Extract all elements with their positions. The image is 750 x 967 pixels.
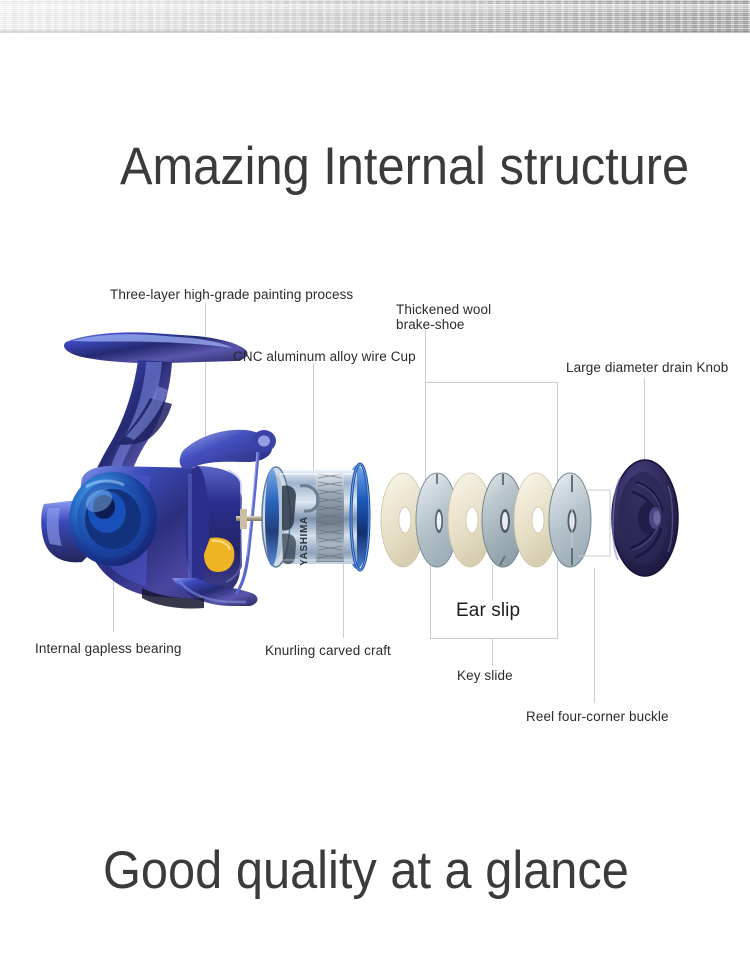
annotation-brake-shoe: Thickened wool brake-shoe bbox=[396, 302, 491, 332]
metal-highlight bbox=[0, 4, 750, 14]
wool-brake-washer bbox=[381, 473, 425, 567]
bracket-top-left-drop bbox=[425, 382, 426, 487]
annotation-painting-process: Three-layer high-grade painting process bbox=[110, 287, 353, 302]
page-title: Amazing Internal structure bbox=[120, 136, 689, 197]
leader-line-knob bbox=[644, 378, 645, 463]
bracket-bottom-washers bbox=[430, 638, 558, 639]
aluminum-wire-spool: YASHIMA bbox=[262, 464, 369, 570]
leader-line-wirecup bbox=[313, 363, 314, 473]
leader-line-buckle bbox=[594, 568, 595, 703]
annotation-ear-slip: Ear slip bbox=[456, 600, 520, 621]
infographic-page: Amazing Internal structure Good quality … bbox=[0, 0, 750, 967]
page-tagline: Good quality at a glance bbox=[103, 840, 629, 901]
annotation-knurling-craft: Knurling carved craft bbox=[265, 643, 391, 658]
drain-knob bbox=[612, 460, 678, 576]
washer-stack bbox=[381, 473, 591, 567]
bracket-bottom-right-rise bbox=[557, 560, 558, 638]
annotation-drain-knob: Large diameter drain Knob bbox=[566, 360, 728, 375]
svg-text:YASHIMA: YASHIMA bbox=[299, 516, 310, 565]
annotation-reel-buckle: Reel four-corner buckle bbox=[526, 709, 669, 724]
brushed-metal-strip bbox=[0, 0, 750, 33]
leader-line-painting bbox=[205, 303, 206, 448]
buckle-bracket bbox=[572, 490, 610, 556]
bracket-top-washers bbox=[425, 382, 558, 383]
leader-line-bearing bbox=[113, 560, 114, 632]
bracket-bottom-left-rise bbox=[430, 560, 431, 638]
bracket-top-right-drop bbox=[557, 382, 558, 487]
reel-frame-and-rotor bbox=[41, 332, 300, 608]
metal-key-washer bbox=[549, 473, 591, 567]
annotation-gapless-bearing: Internal gapless bearing bbox=[35, 641, 182, 656]
metal-bottom-edge bbox=[0, 30, 750, 33]
leader-line-earslip bbox=[492, 565, 493, 600]
metal-key-washer bbox=[416, 473, 458, 567]
leader-line-knurling bbox=[343, 560, 344, 638]
wool-brake-washer bbox=[514, 473, 558, 567]
annotation-wire-cup: CNC aluminum alloy wire Cup bbox=[233, 349, 416, 364]
leader-line-keyslide bbox=[492, 638, 493, 666]
metal-key-washer bbox=[482, 473, 524, 567]
wool-brake-washer bbox=[448, 473, 492, 567]
annotation-key-slide: Key slide bbox=[457, 668, 513, 683]
